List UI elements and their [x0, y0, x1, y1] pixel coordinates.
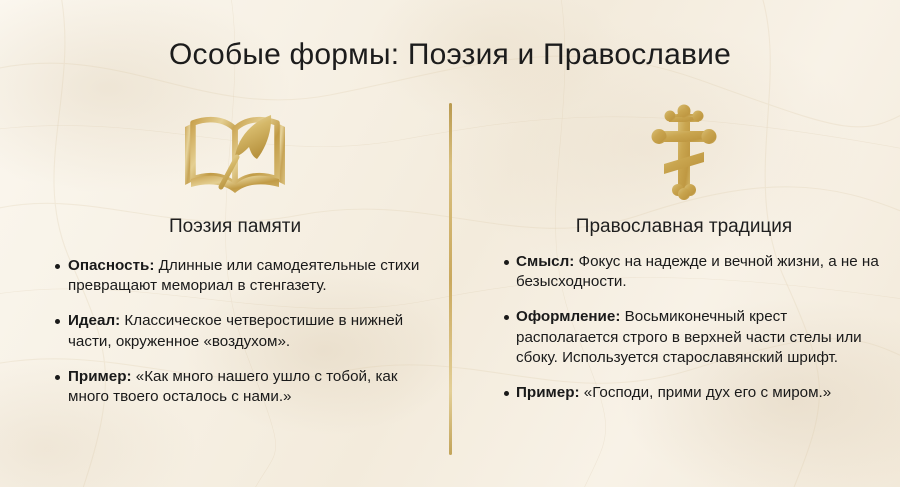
column-poetry: Поэзия памяти Опасность: Длинные или сам… [40, 104, 430, 422]
list-item: Идеал: Классическое четверостишие в нижн… [40, 311, 430, 351]
bullet-list-poetry: Опасность: Длинные или самодеятельные ст… [40, 256, 430, 407]
list-item: Опасность: Длинные или самодеятельные ст… [40, 256, 430, 296]
slide-canvas: Особые формы: Поэзия и Православие [0, 0, 900, 487]
list-item: Пример: «Как много нашего ушло с тобой, … [40, 367, 430, 407]
list-item: Смысл: Фокус на надежде и вечной жизни, … [489, 252, 879, 292]
page-title: Особые формы: Поэзия и Православие [0, 38, 900, 72]
column-divider [449, 103, 452, 455]
bullet-label: Пример: [516, 384, 580, 401]
bullet-text: «Господи, прими дух его с миром.» [580, 384, 832, 401]
bullet-list-orthodox: Смысл: Фокус на надежде и вечной жизни, … [489, 252, 879, 403]
column-heading-poetry: Поэзия памяти [40, 216, 430, 238]
list-item: Пример: «Господи, прими дух его с миром.… [489, 383, 879, 403]
bullet-label: Идеал: [68, 312, 120, 329]
bullet-label: Смысл: [516, 253, 574, 270]
bullet-label: Оформление: [516, 308, 620, 325]
column-heading-orthodox: Православная традиция [489, 216, 879, 238]
column-orthodox: Православная традиция Смысл: Фокус на на… [489, 104, 879, 418]
open-book-with-quill-icon [40, 104, 430, 200]
orthodox-cross-icon [489, 104, 879, 200]
bullet-label: Опасность: [68, 257, 154, 274]
bullet-label: Пример: [68, 368, 132, 385]
list-item: Оформление: Восьмиконечный крест распола… [489, 307, 879, 368]
